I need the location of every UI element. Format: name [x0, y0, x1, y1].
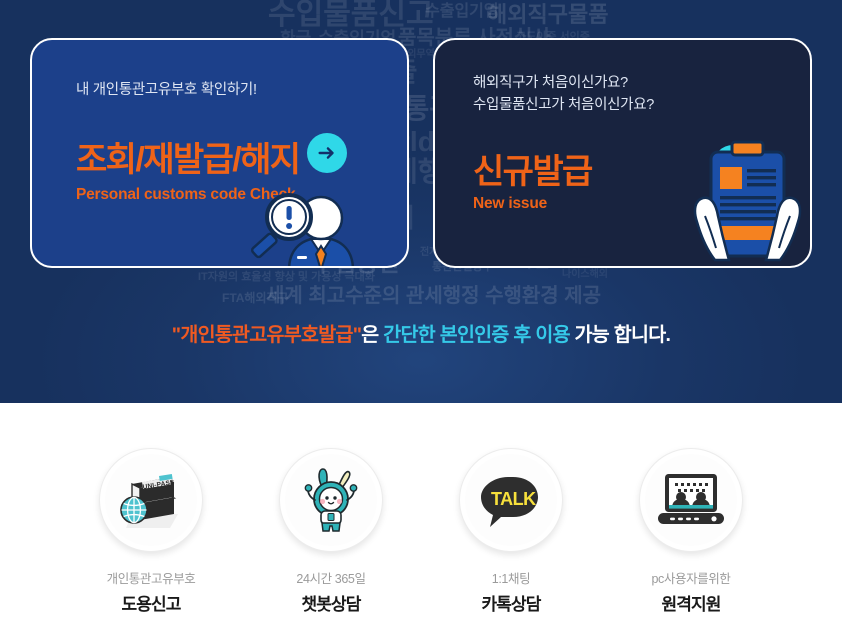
quick-link-icon-circle: TALK: [459, 448, 563, 552]
hero-section: 수입물품신고수출입기업해외직구물품환급수출입기업품목분류 사전심사고도이중 서인…: [0, 0, 842, 403]
arrow-right-icon: [316, 142, 338, 164]
quick-link-kakaotalk[interactable]: TALK 1:1채팅 카톡상담: [421, 448, 601, 615]
card-left-arrow-button[interactable]: [307, 133, 347, 173]
watermark-word: IT자원의 효율성 향상 및 가용성 극대화: [198, 272, 375, 283]
quick-link-subtitle: 1:1채팅: [492, 568, 530, 587]
quick-link-report-misuse[interactable]: UNI-PASS 개인통관고유부호 도용신고: [61, 448, 241, 615]
notice-particle: 은: [361, 324, 378, 346]
notice-highlight: 간단한 본인인증 후 이용: [379, 324, 575, 346]
quick-link-subtitle: 개인통관고유부호: [107, 568, 196, 587]
quick-link-strip: UNI-PASS 개인통관고유부호 도용신고: [0, 403, 842, 635]
notice-line: "개인통관고유부호발급"은 간단한 본인인증 후 이용 가능 합니다.: [0, 318, 842, 347]
card-right-subtitle: 해외직구가 처음이신가요? 수입물품신고가 처음이신가요?: [473, 72, 654, 117]
card-right-subtitle-line-2: 수입물품신고가 처음이신가요?: [473, 97, 654, 113]
promo-card-row: 내 개인통관고유부호 확인하기! 조회/재발급/해지 Personal cust…: [30, 38, 812, 268]
svg-text:TALK: TALK: [491, 489, 536, 509]
card-left-title: 조회/재발급/해지: [76, 132, 299, 181]
card-right-subtitle-line-1: 해외직구가 처음이신가요?: [473, 75, 628, 91]
kakaotalk-speech-bubble-icon: TALK: [478, 469, 544, 531]
quick-link-icon-circle: [639, 448, 743, 552]
quick-link-icon-circle: [279, 448, 383, 552]
watermark-word: 수입물품신고: [268, 0, 434, 30]
quick-link-chatbot[interactable]: 24시간 365일 챗봇상담: [241, 448, 421, 615]
quick-link-title: 도용신고: [122, 590, 181, 615]
page-root: 수입물품신고수출입기업해외직구물품환급수출입기업품목분류 사전심사고도이중 서인…: [0, 0, 842, 635]
remote-support-laptop-icon: [656, 472, 726, 528]
watermark-word: 나이스해외: [562, 270, 608, 280]
watermark-word: 해외직구물품: [487, 4, 608, 26]
unipass-book-globe-icon: UNI-PASS: [118, 470, 184, 530]
quick-link-subtitle: 24시간 365일: [296, 568, 365, 587]
watermark-word: 세계 최고수준의 관세행정 수행환경 제공: [266, 286, 601, 306]
watermark-word: 수출입기업: [425, 4, 499, 20]
chatbot-rabbit-mascot-icon: [301, 467, 361, 533]
quick-link-title: 챗봇상담: [302, 590, 361, 615]
card-right-english-label: New issue: [473, 195, 547, 213]
watermark-word: FTA해외직구: [222, 292, 289, 304]
notice-tail: 가능 합니다.: [575, 324, 671, 346]
card-right-title: 신규발급: [473, 144, 592, 193]
quick-link-subtitle: pc사용자를위한: [651, 568, 730, 587]
card-personal-customs-code-check[interactable]: 내 개인통관고유부호 확인하기! 조회/재발급/해지 Personal cust…: [30, 38, 409, 268]
person-with-magnifier-illustration: [247, 188, 397, 268]
hands-holding-clipboard-illustration: [685, 138, 810, 268]
card-personal-customs-code-new-issue[interactable]: 해외직구가 처음이신가요? 수입물품신고가 처음이신가요? 신규발급 New i…: [433, 38, 812, 268]
quick-link-title: 원격지원: [662, 590, 721, 615]
card-left-subtitle: 내 개인통관고유부호 확인하기!: [76, 78, 257, 99]
quick-link-title: 카톡상담: [482, 590, 541, 615]
quick-link-remote-support[interactable]: pc사용자를위한 원격지원: [601, 448, 781, 615]
notice-quoted-term: "개인통관고유부호발급": [172, 324, 362, 346]
quick-link-icon-circle: UNI-PASS: [99, 448, 203, 552]
